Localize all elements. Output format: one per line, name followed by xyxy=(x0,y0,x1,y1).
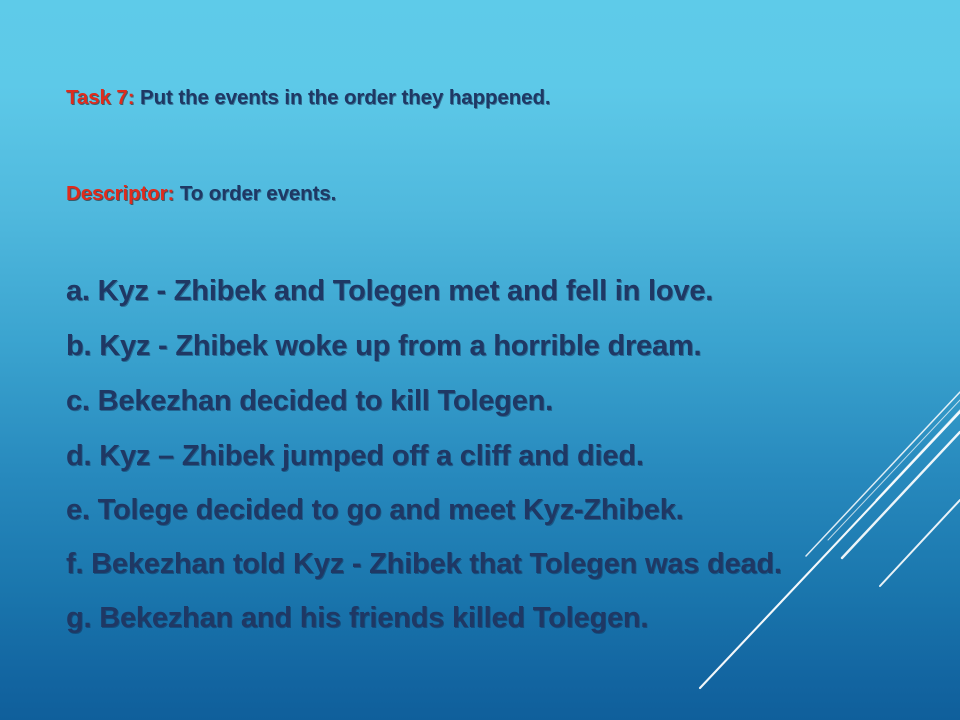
task-text: Put the events in the order they happene… xyxy=(134,86,550,109)
event-marker: d. xyxy=(66,440,91,472)
event-text: Kyz - Zhibek woke up from a horrible dre… xyxy=(91,330,701,362)
event-marker: e. xyxy=(66,494,90,526)
descriptor-heading: Descriptor: To order events. xyxy=(66,182,336,206)
event-marker: c. xyxy=(66,385,90,417)
event-text: Tolege decided to go and meet Kyz-Zhibek… xyxy=(90,494,684,526)
event-item-c: c. Bekezhan decided to kill Tolegen. xyxy=(66,385,553,418)
event-text: Bekezhan told Kyz - Zhibek that Tolegen … xyxy=(83,548,781,580)
slide-content: Task 7: Put the events in the order they… xyxy=(0,0,960,720)
event-marker: f. xyxy=(66,548,83,580)
event-text: Kyz - Zhibek and Tolegen met and fell in… xyxy=(90,275,713,307)
descriptor-text: To order events. xyxy=(174,182,336,205)
presentation-slide: Task 7: Put the events in the order they… xyxy=(0,0,960,720)
event-text: Bekezhan decided to kill Tolegen. xyxy=(90,385,553,417)
task-heading: Task 7: Put the events in the order they… xyxy=(66,86,550,110)
event-text: Bekezhan and his friends killed Tolegen. xyxy=(91,602,648,634)
task-label: Task 7: xyxy=(66,86,134,109)
event-marker: g. xyxy=(66,602,91,634)
event-marker: a. xyxy=(66,275,90,307)
event-text: Kyz – Zhibek jumped off a cliff and died… xyxy=(91,440,643,472)
descriptor-label: Descriptor: xyxy=(66,182,174,205)
event-item-g: g. Bekezhan and his friends killed Toleg… xyxy=(66,602,648,635)
event-marker: b. xyxy=(66,330,91,362)
event-item-f: f. Bekezhan told Kyz - Zhibek that Toleg… xyxy=(66,548,782,581)
event-item-a: a. Kyz - Zhibek and Tolegen met and fell… xyxy=(66,275,713,308)
event-item-d: d. Kyz – Zhibek jumped off a cliff and d… xyxy=(66,440,644,473)
event-item-b: b. Kyz - Zhibek woke up from a horrible … xyxy=(66,330,701,363)
event-item-e: e. Tolege decided to go and meet Kyz-Zhi… xyxy=(66,494,684,527)
